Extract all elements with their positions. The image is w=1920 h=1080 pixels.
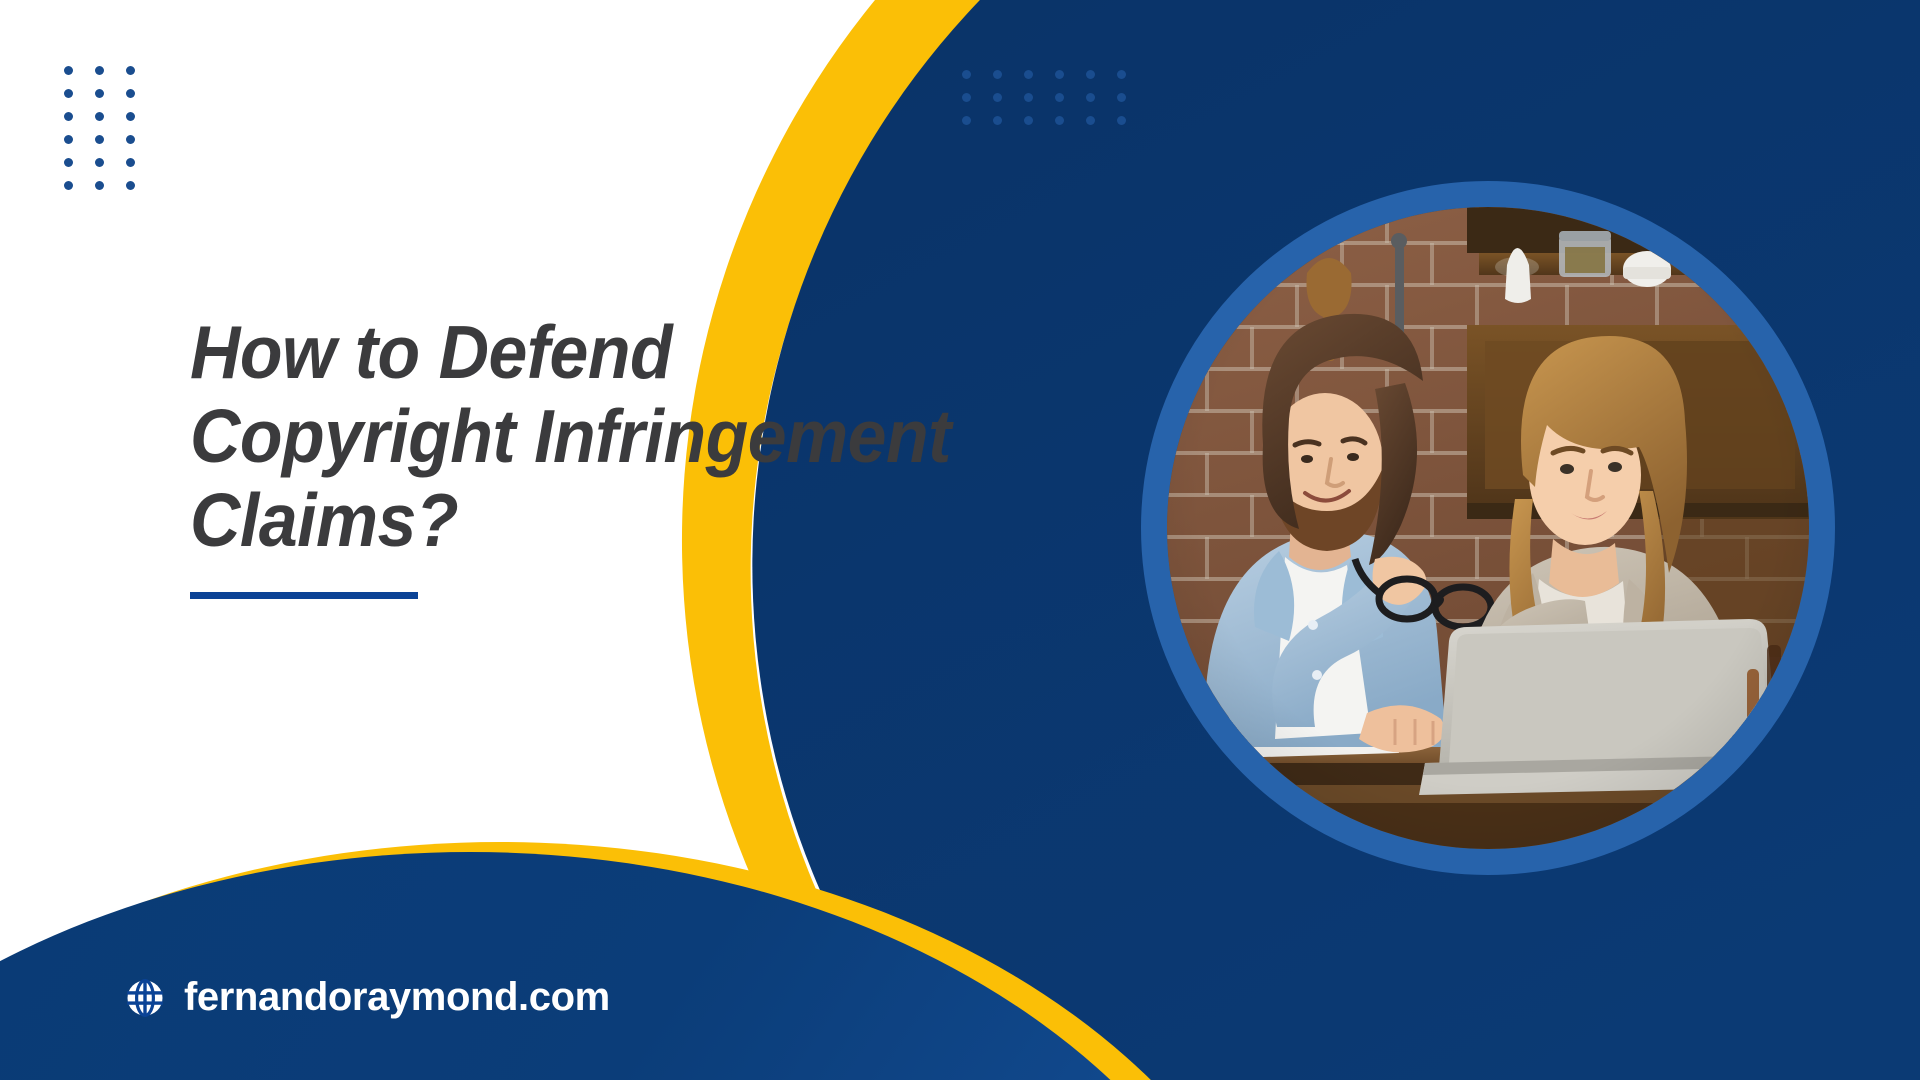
dot [1117, 93, 1126, 102]
dot [993, 116, 1002, 125]
yellow-arc-bottom-left [0, 842, 1310, 1080]
dot [64, 112, 73, 121]
dot [64, 135, 73, 144]
dot [1024, 93, 1033, 102]
dot [962, 70, 971, 79]
dot [95, 135, 104, 144]
title-underline-accent [190, 592, 418, 599]
dot [95, 89, 104, 98]
dot [1086, 70, 1095, 79]
dot [1055, 93, 1064, 102]
dot [126, 66, 135, 75]
dot [993, 70, 1002, 79]
globe-icon [125, 978, 165, 1018]
dot [126, 158, 135, 167]
dot [95, 181, 104, 190]
hero-photo-image [1167, 207, 1809, 849]
dot [95, 66, 104, 75]
dot [126, 89, 135, 98]
dot [95, 112, 104, 121]
dot [1024, 116, 1033, 125]
dot [1117, 70, 1126, 79]
dot-grid-left [64, 66, 135, 190]
dot [962, 93, 971, 102]
slide-canvas: How to Defend Copyright Infringement Cla… [0, 0, 1920, 1080]
navy-wave-bottom-left [0, 852, 1280, 1080]
hero-photo [1141, 181, 1835, 875]
dot [1055, 70, 1064, 79]
site-footer[interactable]: fernandoraymond.com [125, 975, 610, 1020]
dot [64, 158, 73, 167]
dot [126, 181, 135, 190]
dot [126, 135, 135, 144]
dot [126, 112, 135, 121]
page-title: How to Defend Copyright Infringement Cla… [190, 310, 1055, 562]
dot [95, 158, 104, 167]
dot [1117, 116, 1126, 125]
dot [993, 93, 1002, 102]
dot [64, 89, 73, 98]
dot [962, 116, 971, 125]
dot [1024, 70, 1033, 79]
dot [64, 66, 73, 75]
headline-block: How to Defend Copyright Infringement Cla… [190, 310, 1120, 599]
dot [64, 181, 73, 190]
dot-grid-right [962, 70, 1126, 125]
dot [1086, 93, 1095, 102]
dot [1086, 116, 1095, 125]
site-url-text[interactable]: fernandoraymond.com [184, 975, 610, 1020]
dot [1055, 116, 1064, 125]
